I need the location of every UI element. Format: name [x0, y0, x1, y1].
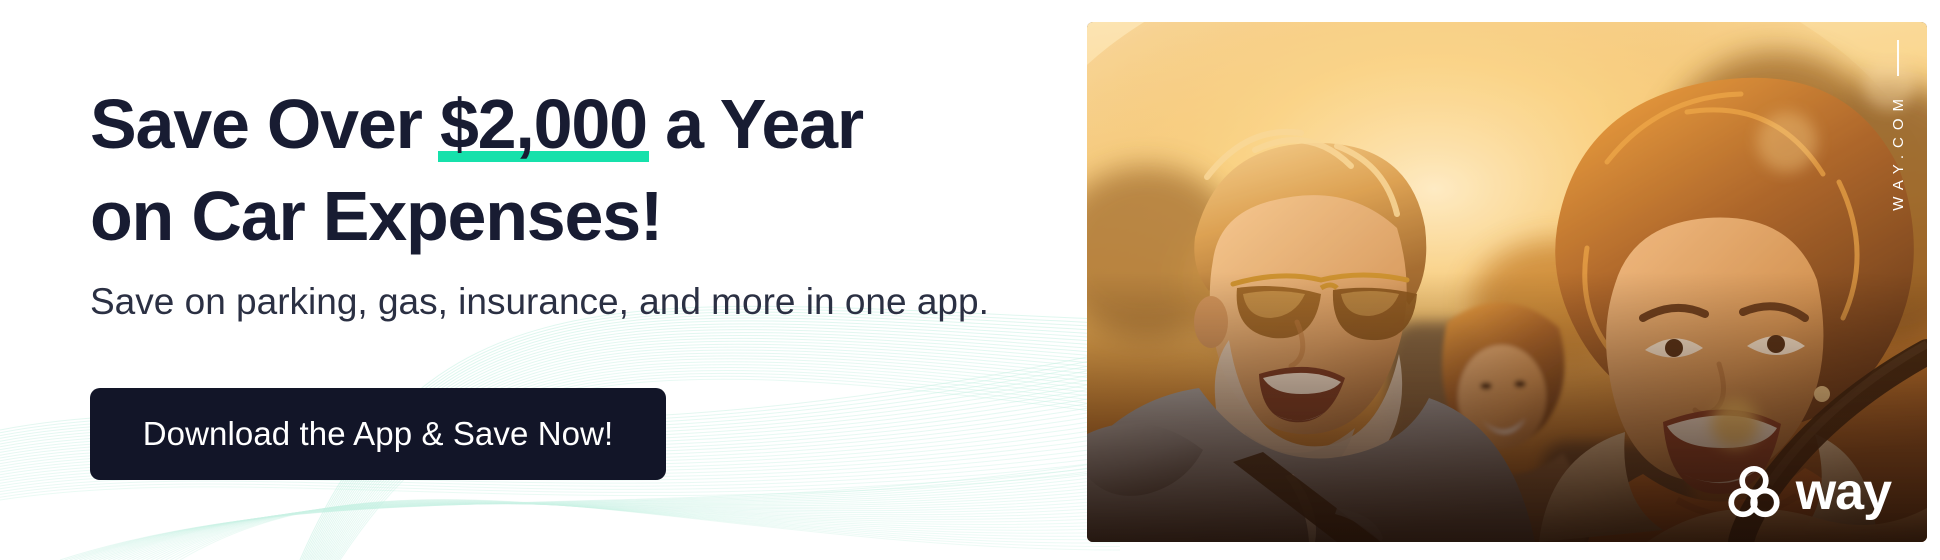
vertical-brand-text: WAY.COM — [1890, 92, 1907, 211]
way-logo-lockup: way — [1726, 464, 1891, 520]
way-wordmark: way — [1796, 466, 1891, 518]
way-interlocking-rings-icon — [1726, 464, 1782, 520]
hero-photo: WAY.COM way — [1087, 22, 1927, 542]
headline-highlighted-amount: $2,000 — [440, 78, 647, 170]
download-app-cta-button[interactable]: Download the App & Save Now! — [90, 388, 666, 480]
page-title: Save Over $2,000 a Year on Car Expenses! — [90, 78, 863, 262]
headline-prefix: Save Over — [90, 85, 440, 163]
headline-line-2: on Car Expenses! — [90, 170, 863, 262]
vertical-rule-divider — [1897, 40, 1899, 76]
copy-panel: Save Over $2,000 a Year on Car Expenses!… — [0, 0, 1085, 560]
subheadline: Save on parking, gas, insurance, and mor… — [90, 279, 989, 325]
headline-line-1: Save Over $2,000 a Year — [90, 78, 863, 170]
headline-suffix: a Year — [647, 85, 863, 163]
promo-banner: Save Over $2,000 a Year on Car Expenses!… — [0, 0, 1940, 560]
vertical-brand-lockup: WAY.COM — [1881, 40, 1915, 300]
